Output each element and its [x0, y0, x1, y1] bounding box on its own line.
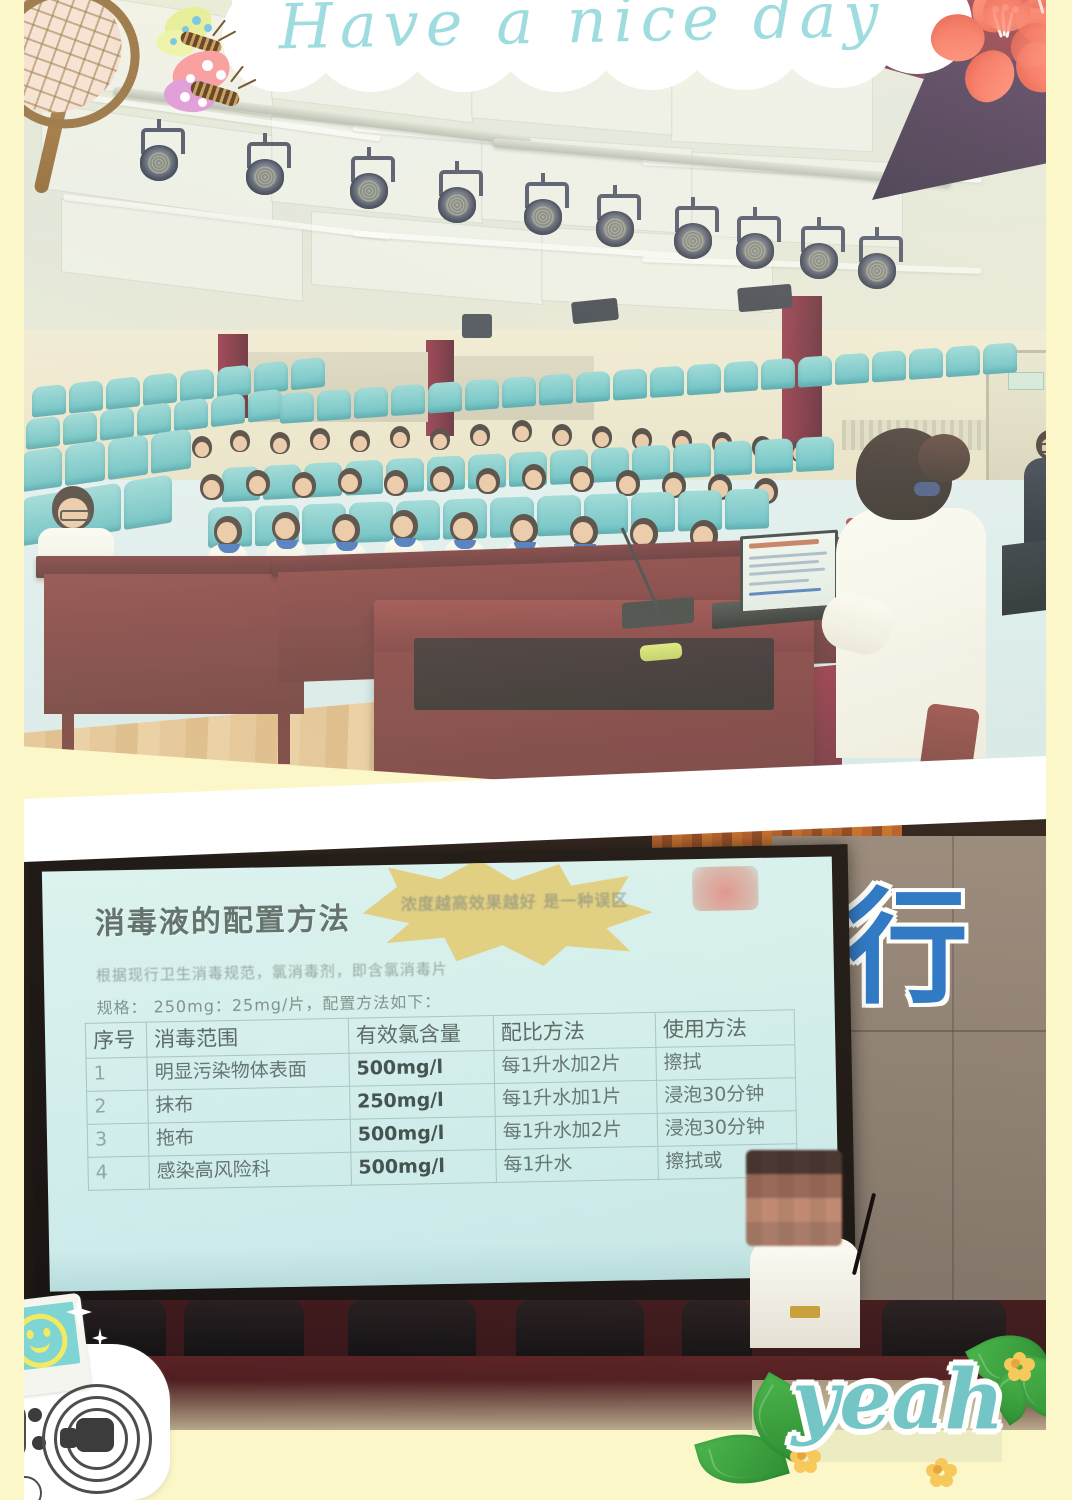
col-header-scope: 消毒范围	[146, 1018, 348, 1057]
stage-light	[798, 226, 840, 282]
greeting-banner: Have a nice day	[232, 0, 932, 90]
exit-sign	[1008, 372, 1044, 390]
slide-subtitle-2: 规格： 250mg：25mg/片，配置方法如下：	[96, 988, 441, 1019]
stage-light	[436, 170, 478, 226]
stage-light	[594, 194, 636, 250]
stage-light	[672, 206, 714, 262]
col-header-ratio: 配比方法	[493, 1012, 656, 1050]
yeah-sticker: yeah	[682, 1316, 1072, 1500]
scrapbook-page: 行 消毒液的配置方法 浓度越高效果越好 是一种误区 根据现行卫生消毒规范，氯消毒…	[0, 0, 1072, 1500]
yeah-text: yeah	[748, 1352, 1048, 1448]
stage-light	[522, 182, 564, 238]
col-header-chlorine: 有效氯含量	[348, 1016, 494, 1054]
slide-image-thumb	[692, 866, 759, 911]
col-header-usage: 使用方法	[655, 1010, 795, 1048]
projection-screen: 消毒液的配置方法 浓度越高效果越好 是一种误区 根据现行卫生消毒规范，氯消毒剂，…	[42, 856, 840, 1291]
pixelated-face	[746, 1150, 842, 1246]
stage-light	[348, 156, 390, 212]
instant-camera-icon	[0, 1300, 192, 1500]
stage-light	[856, 236, 898, 292]
slide-table: 序号 消毒范围 有效氯含量 配比方法 使用方法 1 明显污染物体表面 500mg…	[85, 1009, 798, 1190]
stage-light	[734, 216, 776, 272]
projection-screen-frame: 消毒液的配置方法 浓度越高效果越好 是一种误区 根据现行卫生消毒规范，氯消毒剂，…	[28, 844, 857, 1320]
slide-subtitle-1: 根据现行卫生消毒规范，氯消毒剂，即含氯消毒片	[96, 958, 448, 986]
wall-character-xing: 行	[844, 890, 964, 1020]
stage-light	[244, 142, 286, 198]
slide-title: 消毒液的配置方法	[94, 894, 351, 943]
col-header-index: 序号	[85, 1022, 147, 1058]
butterfly-icon-pink	[158, 52, 268, 128]
